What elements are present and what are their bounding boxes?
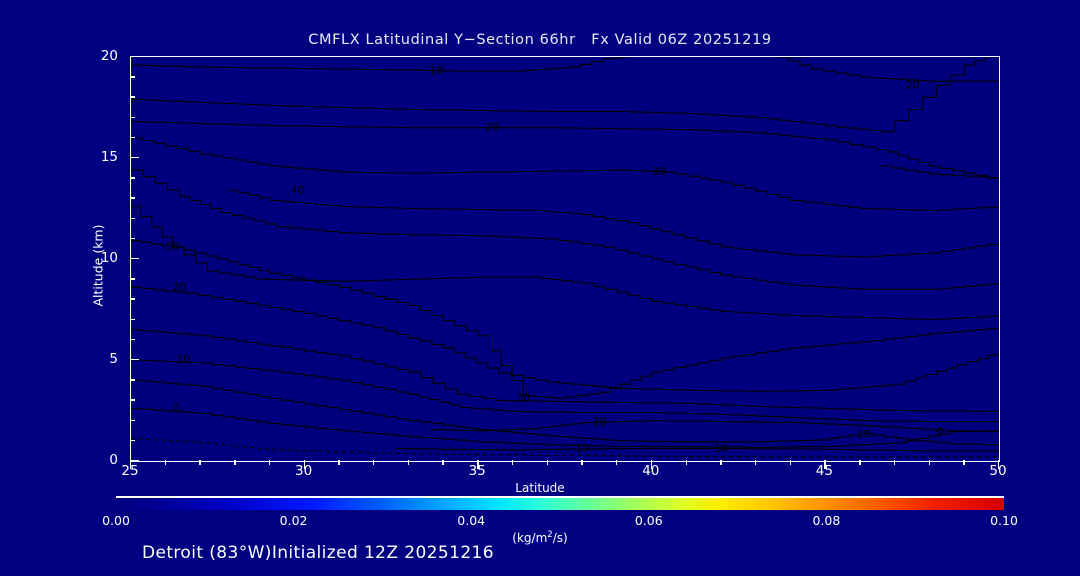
contour-line-20 bbox=[131, 287, 999, 391]
y-tick-mark bbox=[130, 157, 139, 158]
contour-line-0 bbox=[881, 166, 999, 178]
contour-label: 50 bbox=[166, 240, 180, 253]
colorbar-units-head: (kg/m bbox=[512, 531, 547, 545]
y-tick-label: 20 bbox=[78, 48, 118, 64]
colorbar-units-tail: /s) bbox=[553, 531, 568, 545]
y-tick-mark bbox=[130, 420, 135, 421]
x-tick-label: 30 bbox=[295, 463, 312, 479]
svg-text:20: 20 bbox=[905, 78, 919, 91]
contour-label: 10 bbox=[575, 442, 589, 455]
y-tick-label: 15 bbox=[78, 149, 118, 165]
colorbar-tick-label: 0.00 bbox=[102, 513, 130, 528]
y-tick-mark bbox=[130, 96, 135, 97]
y-tick-mark bbox=[130, 298, 135, 299]
x-tick-mark bbox=[616, 460, 617, 465]
figure-canvas: CMFLX Latitudinal Y−Section 66hr Fx Vali… bbox=[0, 0, 1080, 576]
x-tick-label: 35 bbox=[469, 463, 486, 479]
svg-text:20: 20 bbox=[593, 416, 607, 429]
colorbar-gradient bbox=[116, 498, 1004, 510]
contour-line-30 bbox=[131, 241, 999, 399]
contour-label: 40 bbox=[291, 183, 305, 196]
y-tick-mark bbox=[130, 399, 135, 400]
y-tick-mark bbox=[130, 258, 139, 259]
y-tick-mark bbox=[130, 117, 135, 118]
x-tick-mark bbox=[581, 460, 582, 465]
contour-line-40 bbox=[131, 170, 999, 289]
contour-label: 10 bbox=[430, 64, 444, 77]
x-tick-mark bbox=[686, 460, 687, 465]
contour-line-10 bbox=[131, 360, 999, 422]
contour-line-10 bbox=[395, 449, 999, 451]
x-tick-mark bbox=[234, 460, 235, 465]
contour-label: 10 bbox=[857, 428, 871, 441]
svg-text:10: 10 bbox=[176, 353, 190, 366]
colorbar-tick-label: 0.04 bbox=[457, 513, 485, 528]
svg-text:10: 10 bbox=[575, 442, 589, 455]
y-tick-mark bbox=[130, 339, 135, 340]
x-axis-title: Latitude bbox=[0, 481, 1080, 495]
contour-label: 30 bbox=[652, 165, 666, 178]
svg-text:50: 50 bbox=[166, 240, 180, 253]
svg-text:40: 40 bbox=[291, 183, 305, 196]
y-tick-mark bbox=[130, 278, 135, 279]
contour-label: 20 bbox=[593, 416, 607, 429]
contour-line-50 bbox=[131, 207, 999, 320]
y-tick-mark bbox=[130, 319, 135, 320]
contour-line-30 bbox=[131, 138, 999, 211]
x-tick-mark bbox=[269, 460, 270, 465]
contour-line-10 bbox=[131, 57, 624, 71]
y-tick-mark bbox=[130, 440, 135, 441]
y-tick-mark bbox=[130, 177, 135, 178]
colorbar-tick-label: 0.02 bbox=[280, 513, 308, 528]
svg-text:20: 20 bbox=[173, 280, 187, 293]
y-tick-mark bbox=[130, 359, 139, 360]
contour-line-10 bbox=[777, 57, 999, 81]
contour-label: 10 bbox=[176, 353, 190, 366]
y-tick-mark bbox=[130, 76, 135, 77]
x-tick-mark bbox=[755, 460, 756, 465]
svg-text:20: 20 bbox=[485, 121, 499, 134]
colorbar[interactable] bbox=[116, 496, 1004, 510]
y-tick-mark bbox=[130, 238, 135, 239]
contour-label: 30 bbox=[516, 391, 530, 404]
contour-label: 0 bbox=[173, 402, 180, 415]
x-tick-mark bbox=[373, 460, 374, 465]
x-tick-label: 50 bbox=[989, 463, 1006, 479]
x-tick-mark bbox=[894, 460, 895, 465]
y-tick-label: 5 bbox=[78, 351, 118, 367]
y-tick-mark bbox=[130, 137, 135, 138]
colorbar-tick-label: 0.06 bbox=[635, 513, 663, 528]
x-tick-mark bbox=[859, 460, 860, 465]
x-tick-mark bbox=[408, 460, 409, 465]
x-tick-label: 45 bbox=[816, 463, 833, 479]
y-tick-mark bbox=[130, 56, 139, 57]
svg-text:0: 0 bbox=[173, 402, 180, 415]
contour-label: 20 bbox=[173, 280, 187, 293]
x-tick-label: 25 bbox=[121, 463, 138, 479]
colorbar-tick-label: 0.08 bbox=[812, 513, 840, 528]
svg-text:10: 10 bbox=[714, 442, 728, 455]
svg-text:10: 10 bbox=[857, 428, 871, 441]
contour-label: 10 bbox=[714, 442, 728, 455]
y-tick-mark bbox=[130, 379, 135, 380]
contour-label: 20 bbox=[905, 78, 919, 91]
x-tick-mark bbox=[442, 460, 443, 465]
x-tick-mark bbox=[963, 460, 964, 465]
x-tick-mark bbox=[165, 460, 166, 465]
x-tick-mark bbox=[929, 460, 930, 465]
y-tick-label: 0 bbox=[78, 452, 118, 468]
contour-line-0 bbox=[791, 423, 999, 432]
contour-overlay: 1020304050201003020101010020 bbox=[131, 57, 999, 461]
plot-area[interactable]: 1020304050201003020101010020 bbox=[130, 56, 1000, 462]
y-tick-label: 10 bbox=[78, 250, 118, 266]
page-title: CMFLX Latitudinal Y−Section 66hr Fx Vali… bbox=[0, 32, 1080, 48]
svg-text:30: 30 bbox=[516, 391, 530, 404]
x-tick-mark bbox=[199, 460, 200, 465]
svg-text:10: 10 bbox=[430, 64, 444, 77]
footer-caption: Detroit (83°W)Initialized 12Z 20251216 bbox=[142, 543, 494, 563]
contour-label: 0 bbox=[937, 426, 944, 439]
contour-line-0 bbox=[131, 439, 999, 457]
x-tick-mark bbox=[720, 460, 721, 465]
x-tick-mark bbox=[547, 460, 548, 465]
svg-text:0: 0 bbox=[937, 426, 944, 439]
x-tick-mark bbox=[790, 460, 791, 465]
x-tick-mark bbox=[512, 460, 513, 465]
colorbar-top-rule bbox=[116, 496, 1004, 498]
y-tick-mark bbox=[130, 218, 135, 219]
colorbar-tick-label: 0.10 bbox=[990, 513, 1018, 528]
contour-label: 20 bbox=[485, 121, 499, 134]
svg-text:30: 30 bbox=[652, 165, 666, 178]
x-tick-label: 40 bbox=[642, 463, 659, 479]
y-tick-mark bbox=[130, 197, 135, 198]
x-tick-mark bbox=[338, 460, 339, 465]
